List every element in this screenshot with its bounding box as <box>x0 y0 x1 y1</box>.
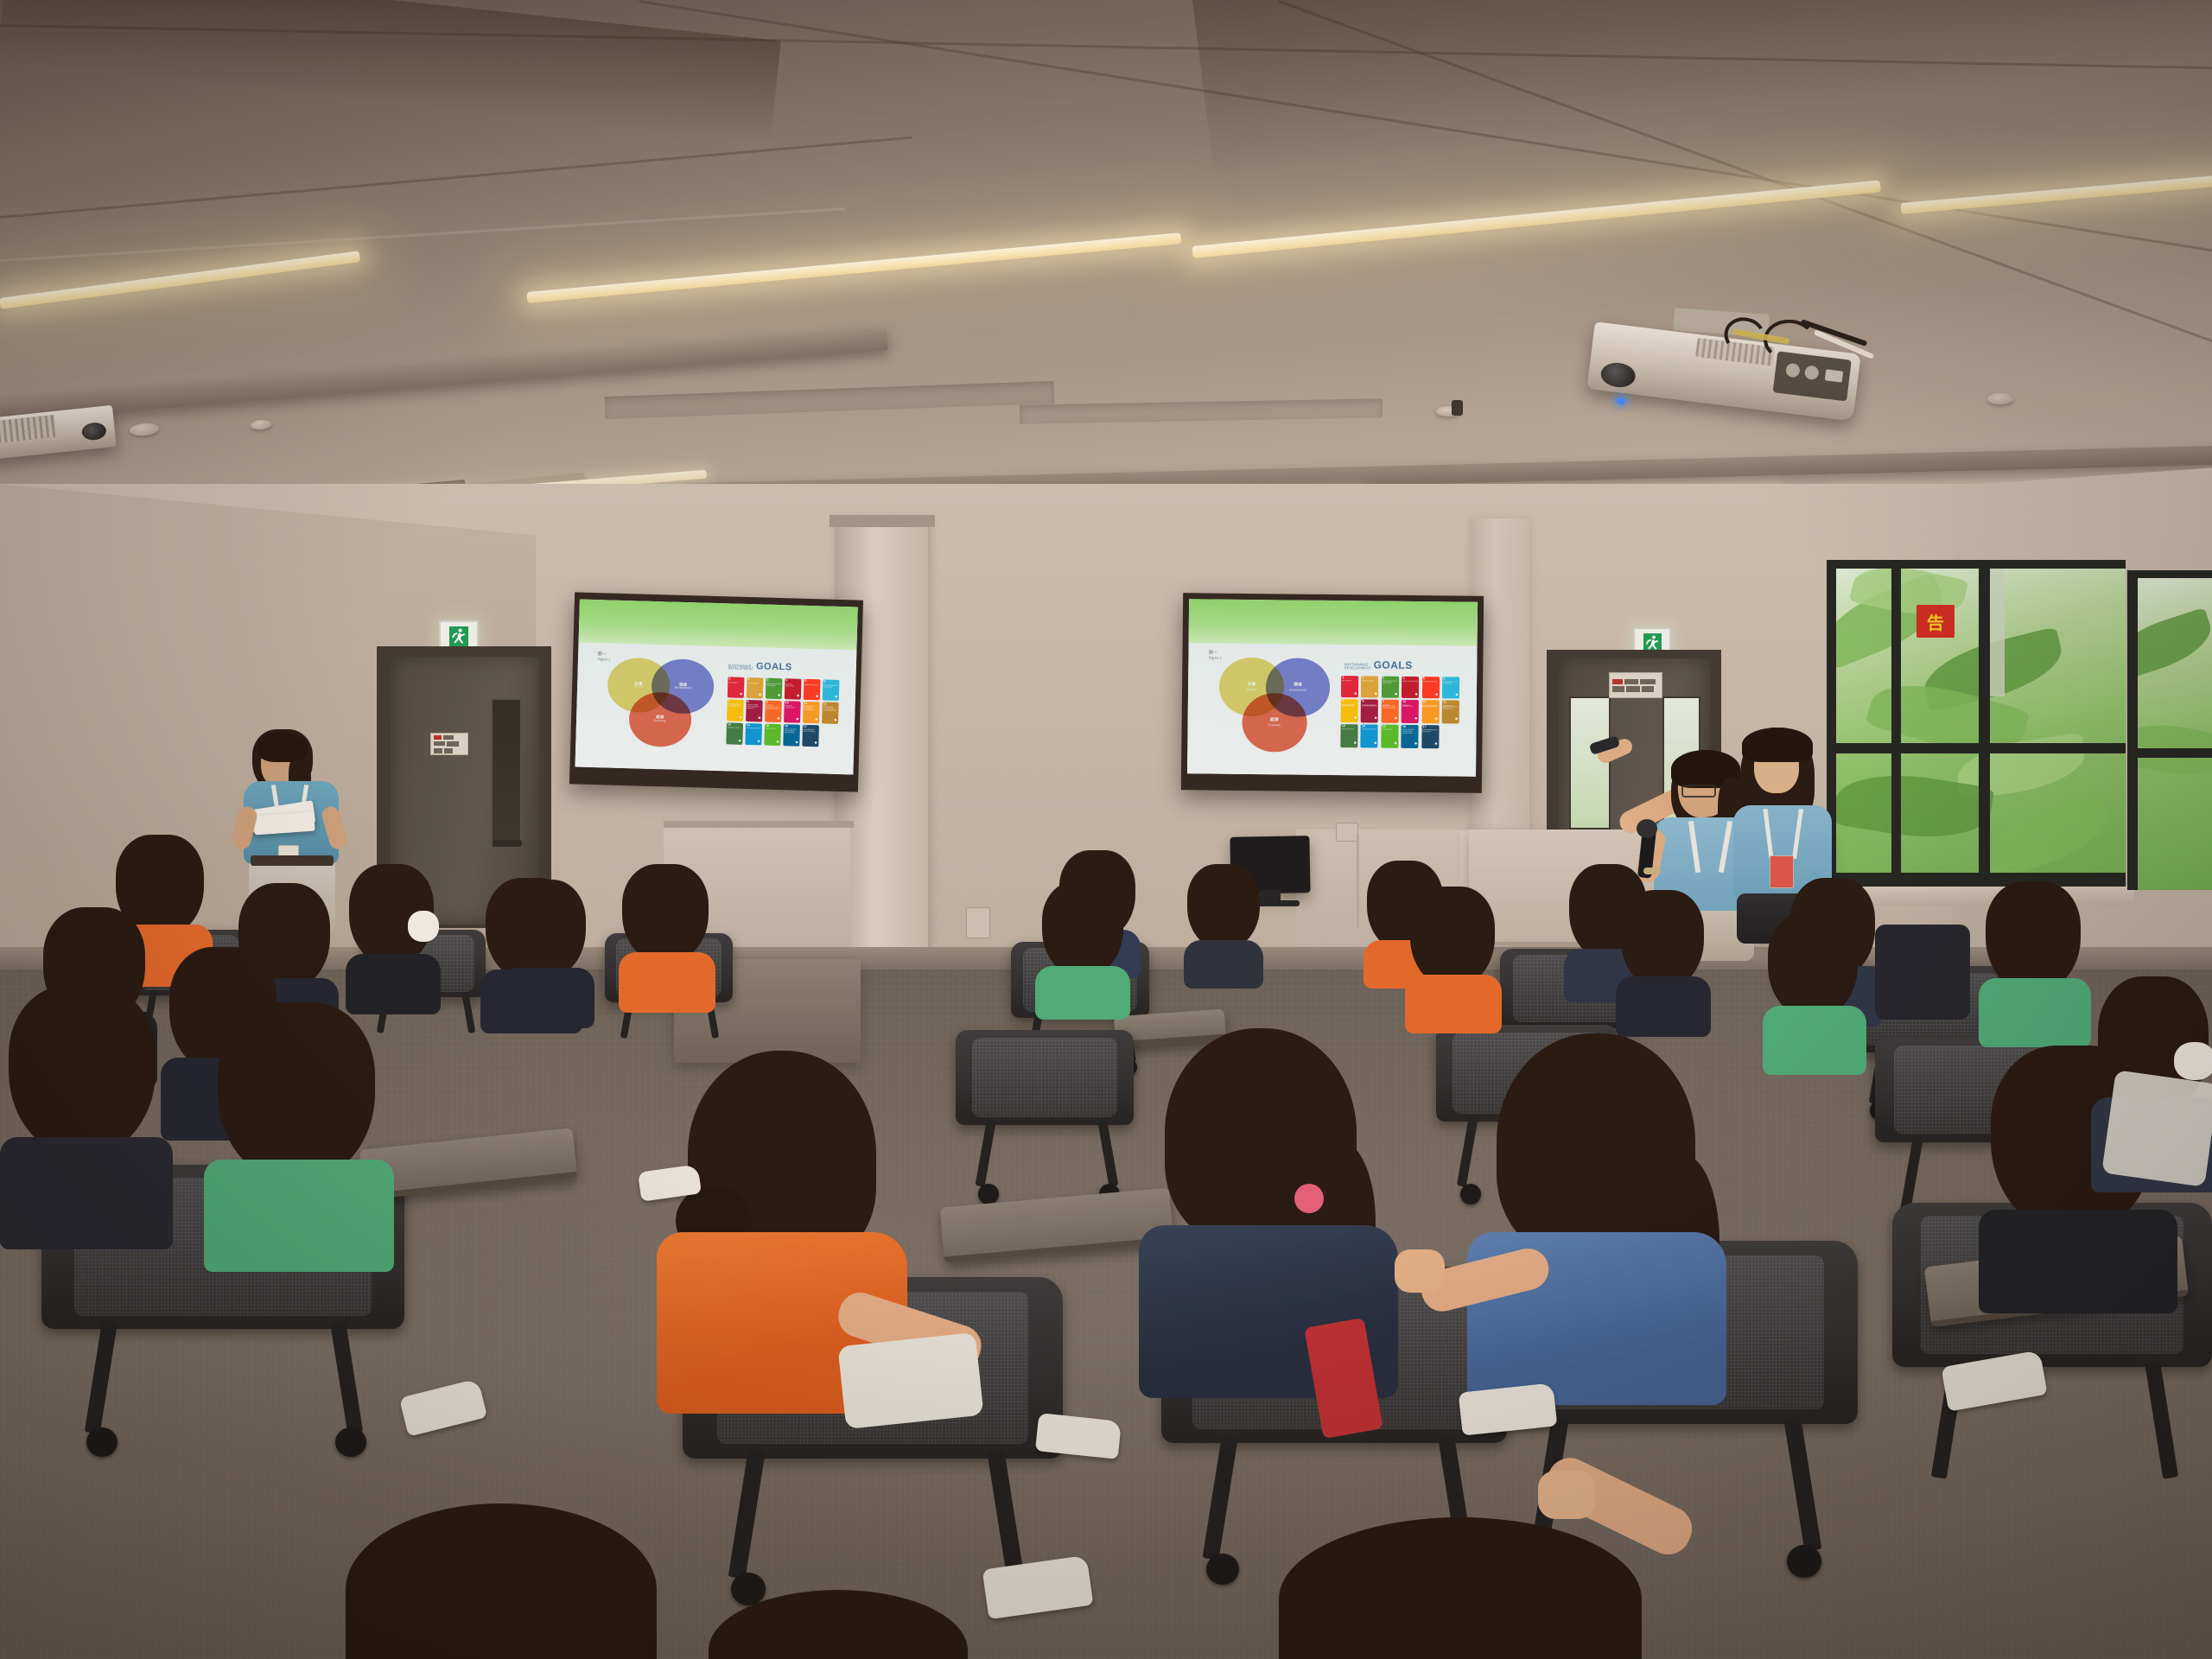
wall-cable <box>1357 834 1359 929</box>
screen-left-frame: 圖一 Figure 1 社會 Society 環境 Environment 經濟 <box>569 592 863 791</box>
sdg-goal-tile: 13CLIMATE ACTION● <box>1340 724 1357 747</box>
sdg-goal-glyph: ● <box>740 691 743 696</box>
sdg-goal-glyph: ● <box>797 693 800 698</box>
sdg-goal-name: REDUCED INEQUALITIES <box>785 706 799 709</box>
glasses-icon <box>1681 785 1716 798</box>
hand <box>1395 1249 1445 1293</box>
sdg-goal-name: GOOD HEALTH AND WELL-BEING <box>766 684 781 688</box>
hair-top <box>257 733 308 762</box>
sdg-goal-name: SUSTAINABLE CITIES AND COMMUNITIES <box>804 707 818 712</box>
screen-right-frame: 圖一 Figure 1 社會 Society 環境 Environment 經濟… <box>1181 593 1484 793</box>
screen-right: 圖一 Figure 1 社會 Society 環境 Environment 經濟… <box>1187 599 1478 776</box>
sdg-goal-tile: 17PARTNERSHIPS FOR THE GOALS● <box>1421 725 1439 748</box>
sdg-goal-tile: 1NO POVERTY● <box>1341 676 1358 697</box>
venn-circle-economy: 經濟 Economy <box>1242 693 1307 753</box>
student-orange <box>657 1051 933 1414</box>
backpack <box>1875 925 1970 1020</box>
sdg-goal-name: NO POVERTY <box>728 683 743 684</box>
white-garment <box>837 1332 983 1429</box>
student <box>499 880 594 1018</box>
sdg-goal-glyph: ● <box>1354 741 1357 747</box>
sdg-goal-number: 8 <box>1362 700 1377 703</box>
sdg-goal-name: PARTNERSHIPS FOR THE GOALS <box>1422 731 1438 734</box>
sdg-goal-tile: 7AFFORDABLE AND CLEAN ENERGY● <box>1341 699 1358 722</box>
sdg-goal-number: 16 <box>1402 726 1418 729</box>
sdg-goal-name: SUSTAINABLE CITIES AND COMMUNITIES <box>1423 706 1439 709</box>
window-mullion <box>1891 560 1901 890</box>
sdg-goal-glyph: ● <box>1395 691 1398 696</box>
sdg-goal-name: AFFORDABLE AND CLEAN ENERGY <box>728 705 742 709</box>
sdg-goal-tile: 12RESPONSIBLE CONSUMPTION AND PRODUCTION… <box>822 702 838 724</box>
sdg-goal-glyph: ● <box>739 715 742 720</box>
slide-left: 圖一 Figure 1 社會 Society 環境 Environment 經濟 <box>575 600 858 775</box>
sdg-goal-tile: 4QUALITY EDUCATION● <box>785 679 801 700</box>
sdg-goal-number: 2 <box>747 678 762 682</box>
sdg-goal-glyph: ● <box>1434 742 1438 747</box>
sdg-grid: 1NO POVERTY●2ZERO HUNGER●3GOOD HEALTH AN… <box>726 677 839 747</box>
sdg-goal-number: 9 <box>1382 701 1398 704</box>
wall-socket <box>1336 823 1358 842</box>
sdg-goal-number: 7 <box>1342 700 1357 703</box>
sdg-goal-tile: 16PEACE, JUSTICE AND STRONG INSTITUTIONS… <box>783 724 799 747</box>
sdg-goal-tile: 5GENDER EQUALITY● <box>804 679 820 700</box>
sdg-goal-number: 3 <box>766 679 781 683</box>
sdg-goal-number: 1 <box>728 678 743 682</box>
sdg-goal-tile: 14LIFE BELOW WATER● <box>1361 724 1378 747</box>
sdg-goal-glyph: ● <box>1434 717 1438 722</box>
sdg-goal-name: GENDER EQUALITY <box>1423 683 1439 684</box>
sdg-goal-tile: 8DECENT WORK AND ECONOMIC GROWTH● <box>746 700 762 722</box>
sdg-goal-number: 13 <box>1342 725 1357 728</box>
sdg-goal-name: AFFORDABLE AND CLEAN ENERGY <box>1342 705 1357 709</box>
sdg-goal-tile: 1NO POVERTY● <box>728 677 744 698</box>
window-mullion <box>1979 560 1990 890</box>
sdg-goal-glyph: ● <box>1414 741 1418 747</box>
sdg-goal-glyph: ● <box>1395 716 1398 721</box>
sdg-goal-tile: 16PEACE, JUSTICE AND STRONG INSTITUTIONS… <box>1402 725 1419 748</box>
window-right: 告 <box>1827 560 2126 890</box>
sdg-goal-glyph: ● <box>778 693 781 698</box>
door-vision-panel <box>491 698 522 849</box>
sdg-goal-tile: 12RESPONSIBLE CONSUMPTION AND PRODUCTION… <box>1442 700 1459 723</box>
sdg-goal-name: DECENT WORK AND ECONOMIC GROWTH <box>1362 705 1377 709</box>
sdg-goal-name: LIFE ON LAND <box>766 729 780 731</box>
sdg-goal-glyph: ● <box>759 692 762 697</box>
hand <box>1538 1471 1595 1519</box>
sdg-goal-number: 12 <box>823 702 838 706</box>
smoke-detector-icon <box>1987 393 2013 404</box>
door-notice-sign <box>430 733 468 755</box>
slide-band <box>579 600 858 651</box>
column-cap <box>829 515 935 527</box>
sdg-goal-name: CLIMATE ACTION <box>728 728 742 730</box>
student <box>346 864 441 1002</box>
microphone-head <box>1637 819 1657 838</box>
projector-rear <box>0 397 128 489</box>
sdg-goal-name: RESPONSIBLE CONSUMPTION AND PRODUCTION <box>823 708 837 713</box>
sdg-goal-tile: 9INDUSTRY, INNOVATION AND INFRASTRUCTURE… <box>765 700 781 722</box>
sdg-goal-name: CLEAN WATER AND SANITATION <box>1443 683 1459 686</box>
sdg-goal-tile: 14LIFE BELOW WATER● <box>745 723 761 746</box>
door-notice-sign <box>1609 672 1662 698</box>
sdg-goal-number: 6 <box>823 681 838 684</box>
sdg-goal-glyph: ● <box>758 715 761 721</box>
student-navy <box>1139 1028 1415 1391</box>
sdg-goal-name: DECENT WORK AND ECONOMIC GROWTH <box>747 705 761 710</box>
sdg-goal-name: LIFE BELOW WATER <box>747 728 761 730</box>
student <box>1035 881 1130 1011</box>
student <box>1979 881 2091 1037</box>
sdg-goal-tile: 6CLEAN WATER AND SANITATION● <box>1442 677 1459 698</box>
sdg-goal-glyph: ● <box>814 741 817 746</box>
student <box>1763 912 1866 1068</box>
sdg-goal-name: CLEAN WATER AND SANITATION <box>823 685 838 689</box>
sdg-goal-name: ZERO HUNGER <box>747 683 762 685</box>
sdg-goal-name: CLIMATE ACTION <box>1342 730 1357 732</box>
sdg-goal-glyph: ● <box>816 694 819 699</box>
sdg-goal-tile: 9INDUSTRY, INNOVATION AND INFRASTRUCTURE… <box>1381 700 1398 723</box>
sdg-goal-name: NO POVERTY <box>1342 682 1357 683</box>
sdg-goal-tile: 8DECENT WORK AND ECONOMIC GROWTH● <box>1361 699 1378 722</box>
sdg-goal-glyph: ● <box>1435 692 1439 697</box>
sdg-goal-name: GENDER EQUALITY <box>804 685 819 687</box>
sdg-goal-glyph: ● <box>1394 741 1397 747</box>
sprinkler-icon <box>1452 400 1463 416</box>
sdg-goal-number: 5 <box>804 680 819 683</box>
sdg-goal-glyph: ● <box>777 716 780 721</box>
sdg-goal-name: RESPONSIBLE CONSUMPTION AND PRODUCTION <box>1443 706 1459 711</box>
sdg-goal-glyph: ● <box>795 740 798 745</box>
sdg-goal-name: PARTNERSHIPS FOR THE GOALS <box>804 730 818 734</box>
sdg-goal-number: 7 <box>728 700 743 703</box>
sdg-goal-name: LIFE ON LAND <box>1382 730 1398 732</box>
sdg-goal-glyph: ● <box>815 717 818 722</box>
outdoor-sign: 告 <box>1916 605 1955 638</box>
window-post <box>1989 567 2005 696</box>
sdg-goal-glyph: ● <box>776 740 779 745</box>
sdg-goal-number: 10 <box>1402 701 1418 704</box>
wall-panel-top <box>664 821 854 828</box>
sdg-goal-name: ZERO HUNGER <box>1363 682 1378 683</box>
sdg-goal-glyph: ● <box>1375 691 1378 696</box>
sdg-goal-name: QUALITY EDUCATION <box>1402 682 1418 683</box>
belt <box>251 855 334 866</box>
sdg-goal-glyph: ● <box>757 739 760 744</box>
sdg-goal-name: GOOD HEALTH AND WELL-BEING <box>1382 682 1398 685</box>
face-mask <box>2174 1042 2212 1080</box>
outdoor-sign-text: 告 <box>1927 609 1944 634</box>
sdg-goal-number: 8 <box>747 701 762 704</box>
screen-left: 圖一 Figure 1 社會 Society 環境 Environment 經濟 <box>575 600 858 775</box>
sdg-goal-tile: 3GOOD HEALTH AND WELL-BEING● <box>766 678 782 699</box>
sdg-goal-tile: 3GOOD HEALTH AND WELL-BEING● <box>1382 676 1399 697</box>
sdg-goal-name: PEACE, JUSTICE AND STRONG INSTITUTIONS <box>1402 730 1418 735</box>
student-foreground <box>346 1503 657 1659</box>
sdg-goal-tile: 15LIFE ON LAND● <box>1381 724 1398 747</box>
sdg-goal-tile: 11SUSTAINABLE CITIES AND COMMUNITIES● <box>1421 700 1439 723</box>
sdg-goal-tile: 11SUSTAINABLE CITIES AND COMMUNITIES● <box>803 701 819 723</box>
sdg-goal-tile: 17PARTNERSHIPS FOR THE GOALS● <box>802 725 818 747</box>
hair-top <box>1742 728 1813 762</box>
slide-band <box>1189 599 1478 645</box>
venn-diagram: 社會 Society 環境 Environment 經濟 Economy <box>1217 655 1333 761</box>
student <box>204 1002 394 1262</box>
sdg-goal-name: QUALITY EDUCATION <box>785 684 800 688</box>
slide-right: 圖一 Figure 1 社會 Society 環境 Environment 經濟… <box>1187 599 1478 776</box>
sdg-goal-name: INDUSTRY, INNOVATION AND INFRASTRUCTURE <box>766 706 780 711</box>
sdg-goal-name: INDUSTRY, INNOVATION AND INFRASTRUCTURE <box>1382 705 1398 710</box>
wall-socket <box>966 907 990 938</box>
sdg-goal-glyph: ● <box>1455 692 1459 697</box>
sdg-goal-tile: 15LIFE ON LAND● <box>764 723 780 746</box>
sdg-goal-tile: 4QUALITY EDUCATION● <box>1402 677 1419 698</box>
sdg-goal-name: PEACE, JUSTICE AND STRONG INSTITUTIONS <box>785 730 799 735</box>
face-mask <box>408 911 439 942</box>
sdg-goal-glyph: ● <box>1455 717 1459 722</box>
venn-diagram: 社會 Society 環境 Environment 經濟 Economy <box>603 655 717 755</box>
sdg-header: SUSTAINABLE DEVELOPMENT GOALS <box>728 660 792 672</box>
sdg-goal-number: 11 <box>804 702 819 705</box>
sdg-goal-number: 12 <box>1443 701 1459 704</box>
hair-tie <box>1294 1184 1324 1213</box>
sdg-goal-name: REDUCED INEQUALITIES <box>1402 705 1418 709</box>
sdg-goal-tile: 10REDUCED INEQUALITIES● <box>784 701 800 723</box>
running-man-icon <box>449 626 468 647</box>
sdg-goal-glyph: ● <box>835 694 838 699</box>
sdg-goal-glyph: ● <box>738 738 741 743</box>
sdg-goal-number: 9 <box>766 701 781 704</box>
student <box>1616 890 1711 1028</box>
window-mullion <box>1827 743 2126 753</box>
sdg-goal-tile: 7AFFORDABLE AND CLEAN ENERGY● <box>727 699 743 721</box>
window-mullion <box>1827 560 2126 569</box>
student <box>1405 887 1502 1025</box>
classroom-scene: 圖一 Figure 1 社會 Society 環境 Environment 經濟 <box>0 0 2212 1659</box>
student-foreground <box>1279 1517 1642 1659</box>
student <box>619 864 715 1002</box>
chair[interactable] <box>956 1030 1134 1211</box>
sdg-goal-tile: 5GENDER EQUALITY● <box>1422 677 1440 698</box>
student <box>0 985 173 1244</box>
sdg-goal-glyph: ● <box>1414 692 1418 697</box>
door-handle[interactable] <box>493 840 522 847</box>
sdg-header: SUSTAINABLE DEVELOPMENT GOALS <box>1344 658 1413 671</box>
sdg-goal-glyph: ● <box>1354 716 1357 721</box>
sdg-goal-glyph: ● <box>796 716 799 721</box>
sdg-goal-tile: 13CLIMATE ACTION● <box>726 722 742 745</box>
sdg-goal-tile: 2ZERO HUNGER● <box>1361 676 1378 697</box>
sdg-goal-number: 4 <box>785 680 800 683</box>
sdg-goal-glyph: ● <box>834 717 837 722</box>
sdg-goal-glyph: ● <box>1354 691 1357 696</box>
sdg-goal-glyph: ● <box>1374 741 1377 747</box>
sdg-goal-tile: 2ZERO HUNGER● <box>747 677 763 698</box>
bag <box>2101 1070 2212 1187</box>
sdg-goal-glyph: ● <box>1374 716 1377 721</box>
sdg-goal-tile: 10REDUCED INEQUALITIES● <box>1402 700 1419 723</box>
sdg-grid: 1NO POVERTY●2ZERO HUNGER●3GOOD HEALTH AN… <box>1340 676 1459 748</box>
sdg-goal-tile: 6CLEAN WATER AND SANITATION● <box>823 680 839 701</box>
sdg-goal-number: 10 <box>785 702 800 705</box>
sdg-goal-name: LIFE BELOW WATER <box>1362 730 1377 732</box>
sdg-goal-number: 1 <box>1342 677 1357 680</box>
window-right-sliver <box>2127 570 2212 890</box>
student-blue <box>1467 1033 1752 1396</box>
sdg-goal-number: 11 <box>1423 701 1439 704</box>
student-foreground <box>709 1590 968 1659</box>
sdg-goal-glyph: ● <box>1414 716 1418 721</box>
sdg-goal-number: 2 <box>1363 677 1378 680</box>
student <box>1184 864 1263 976</box>
